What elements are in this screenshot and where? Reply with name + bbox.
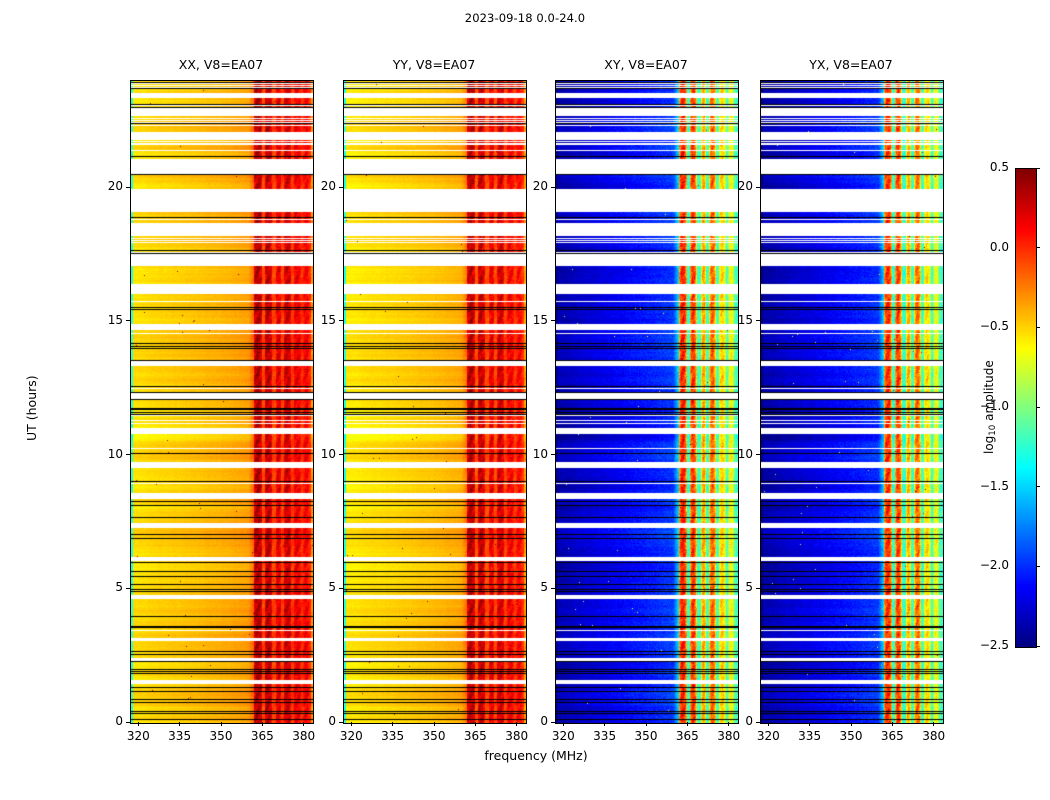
x-tick-mark	[933, 722, 934, 726]
heatmap-image-xy	[556, 81, 738, 723]
panel-title-yx: YX, V8=EA07	[760, 57, 942, 72]
y-tick-mark	[551, 187, 555, 188]
x-tick-label: 380	[495, 729, 539, 743]
colorbar-tick-label: 0.5	[971, 160, 1009, 174]
y-tick-mark	[551, 722, 555, 723]
colorbar-tick-mark	[1036, 646, 1040, 647]
heatmap-panel-yy[interactable]	[343, 80, 527, 724]
y-tick-label: 15	[297, 313, 336, 327]
x-tick-label: 320	[541, 729, 585, 743]
y-tick-label: 15	[509, 313, 548, 327]
y-tick-label: 10	[509, 447, 548, 461]
x-tick-label: 320	[116, 729, 160, 743]
x-tick-mark	[475, 722, 476, 726]
y-tick-mark	[756, 722, 760, 723]
y-axis-label: UT (hours)	[24, 375, 39, 441]
y-tick-label: 15	[84, 313, 123, 327]
heatmap-image-xx	[131, 81, 313, 723]
colorbar-tick-label: −0.5	[971, 319, 1009, 333]
x-tick-label: 350	[829, 729, 873, 743]
y-tick-label: 20	[509, 179, 548, 193]
x-tick-mark	[563, 722, 564, 726]
y-tick-mark	[756, 454, 760, 455]
y-tick-mark	[126, 320, 130, 321]
y-tick-label: 0	[297, 714, 336, 728]
y-tick-label: 20	[297, 179, 336, 193]
y-tick-mark	[756, 588, 760, 589]
y-tick-mark	[126, 722, 130, 723]
y-tick-label: 10	[714, 447, 753, 461]
heatmap-panel-xy[interactable]	[555, 80, 739, 724]
figure-suptitle: 2023-09-18 0.0-24.0	[0, 11, 1050, 25]
y-tick-label: 0	[84, 714, 123, 728]
panel-title-xy: XY, V8=EA07	[555, 57, 737, 72]
panel-title-yy: YY, V8=EA07	[343, 57, 525, 72]
heatmap-image-yy	[344, 81, 526, 723]
y-tick-mark	[756, 320, 760, 321]
x-tick-mark	[604, 722, 605, 726]
x-tick-label: 380	[912, 729, 956, 743]
y-tick-label: 10	[297, 447, 336, 461]
y-tick-mark	[551, 454, 555, 455]
colorbar-tick-mark	[1036, 327, 1040, 328]
y-tick-mark	[339, 588, 343, 589]
y-tick-label: 0	[714, 714, 753, 728]
x-tick-label: 380	[282, 729, 326, 743]
x-tick-mark	[851, 722, 852, 726]
y-tick-mark	[551, 588, 555, 589]
y-tick-label: 5	[297, 580, 336, 594]
colorbar-tick-mark	[1036, 407, 1040, 408]
y-tick-mark	[339, 320, 343, 321]
x-tick-mark	[768, 722, 769, 726]
figure-canvas: 2023-09-18 0.0-24.0 XX, V8=EA07320335350…	[0, 0, 1050, 800]
colorbar-label-tail: amplitude	[982, 360, 996, 424]
x-tick-label: 350	[199, 729, 243, 743]
colorbar-tick-mark	[1036, 168, 1040, 169]
x-tick-label: 350	[412, 729, 456, 743]
x-tick-label: 350	[624, 729, 668, 743]
y-tick-label: 5	[509, 580, 548, 594]
panel-title-xx: XX, V8=EA07	[130, 57, 312, 72]
y-tick-mark	[756, 187, 760, 188]
x-tick-mark	[392, 722, 393, 726]
colorbar-tick-mark	[1036, 486, 1040, 487]
colorbar-label: log10 amplitude	[982, 360, 998, 454]
x-tick-mark	[221, 722, 222, 726]
x-tick-label: 365	[665, 729, 709, 743]
colorbar-label-sub: 10	[988, 425, 998, 436]
x-tick-mark	[138, 722, 139, 726]
x-tick-mark	[434, 722, 435, 726]
heatmap-panel-yx[interactable]	[760, 80, 944, 724]
x-tick-label: 365	[453, 729, 497, 743]
colorbar-tick-label: −2.5	[971, 638, 1009, 652]
colorbar-tick-mark	[1036, 247, 1040, 248]
y-tick-label: 0	[509, 714, 548, 728]
x-tick-label: 365	[240, 729, 284, 743]
x-tick-label: 365	[870, 729, 914, 743]
x-tick-mark	[351, 722, 352, 726]
heatmap-image-yx	[761, 81, 943, 723]
x-tick-mark	[262, 722, 263, 726]
y-tick-mark	[126, 187, 130, 188]
x-tick-label: 320	[329, 729, 373, 743]
x-tick-label: 335	[158, 729, 202, 743]
x-tick-label: 335	[583, 729, 627, 743]
colorbar-label-main: log	[982, 436, 996, 454]
y-tick-mark	[339, 722, 343, 723]
x-tick-label: 380	[707, 729, 751, 743]
y-tick-label: 20	[84, 179, 123, 193]
colorbar-tick-mark	[1036, 566, 1040, 567]
x-tick-label: 335	[788, 729, 832, 743]
colorbar[interactable]	[1015, 168, 1037, 648]
y-tick-label: 15	[714, 313, 753, 327]
y-tick-mark	[126, 588, 130, 589]
colorbar-tick-label: −2.0	[971, 558, 1009, 572]
x-tick-mark	[646, 722, 647, 726]
colorbar-tick-label: −1.5	[971, 479, 1009, 493]
y-tick-mark	[551, 320, 555, 321]
y-tick-mark	[126, 454, 130, 455]
x-tick-mark	[892, 722, 893, 726]
x-tick-mark	[809, 722, 810, 726]
y-tick-label: 10	[84, 447, 123, 461]
heatmap-panel-xx[interactable]	[130, 80, 314, 724]
y-tick-label: 20	[714, 179, 753, 193]
y-tick-mark	[339, 454, 343, 455]
x-axis-label: frequency (MHz)	[130, 748, 942, 763]
colorbar-tick-label: 0.0	[971, 240, 1009, 254]
y-tick-label: 5	[714, 580, 753, 594]
y-tick-mark	[339, 187, 343, 188]
x-tick-mark	[179, 722, 180, 726]
x-tick-label: 335	[371, 729, 415, 743]
x-tick-label: 320	[746, 729, 790, 743]
y-tick-label: 5	[84, 580, 123, 594]
x-tick-mark	[687, 722, 688, 726]
